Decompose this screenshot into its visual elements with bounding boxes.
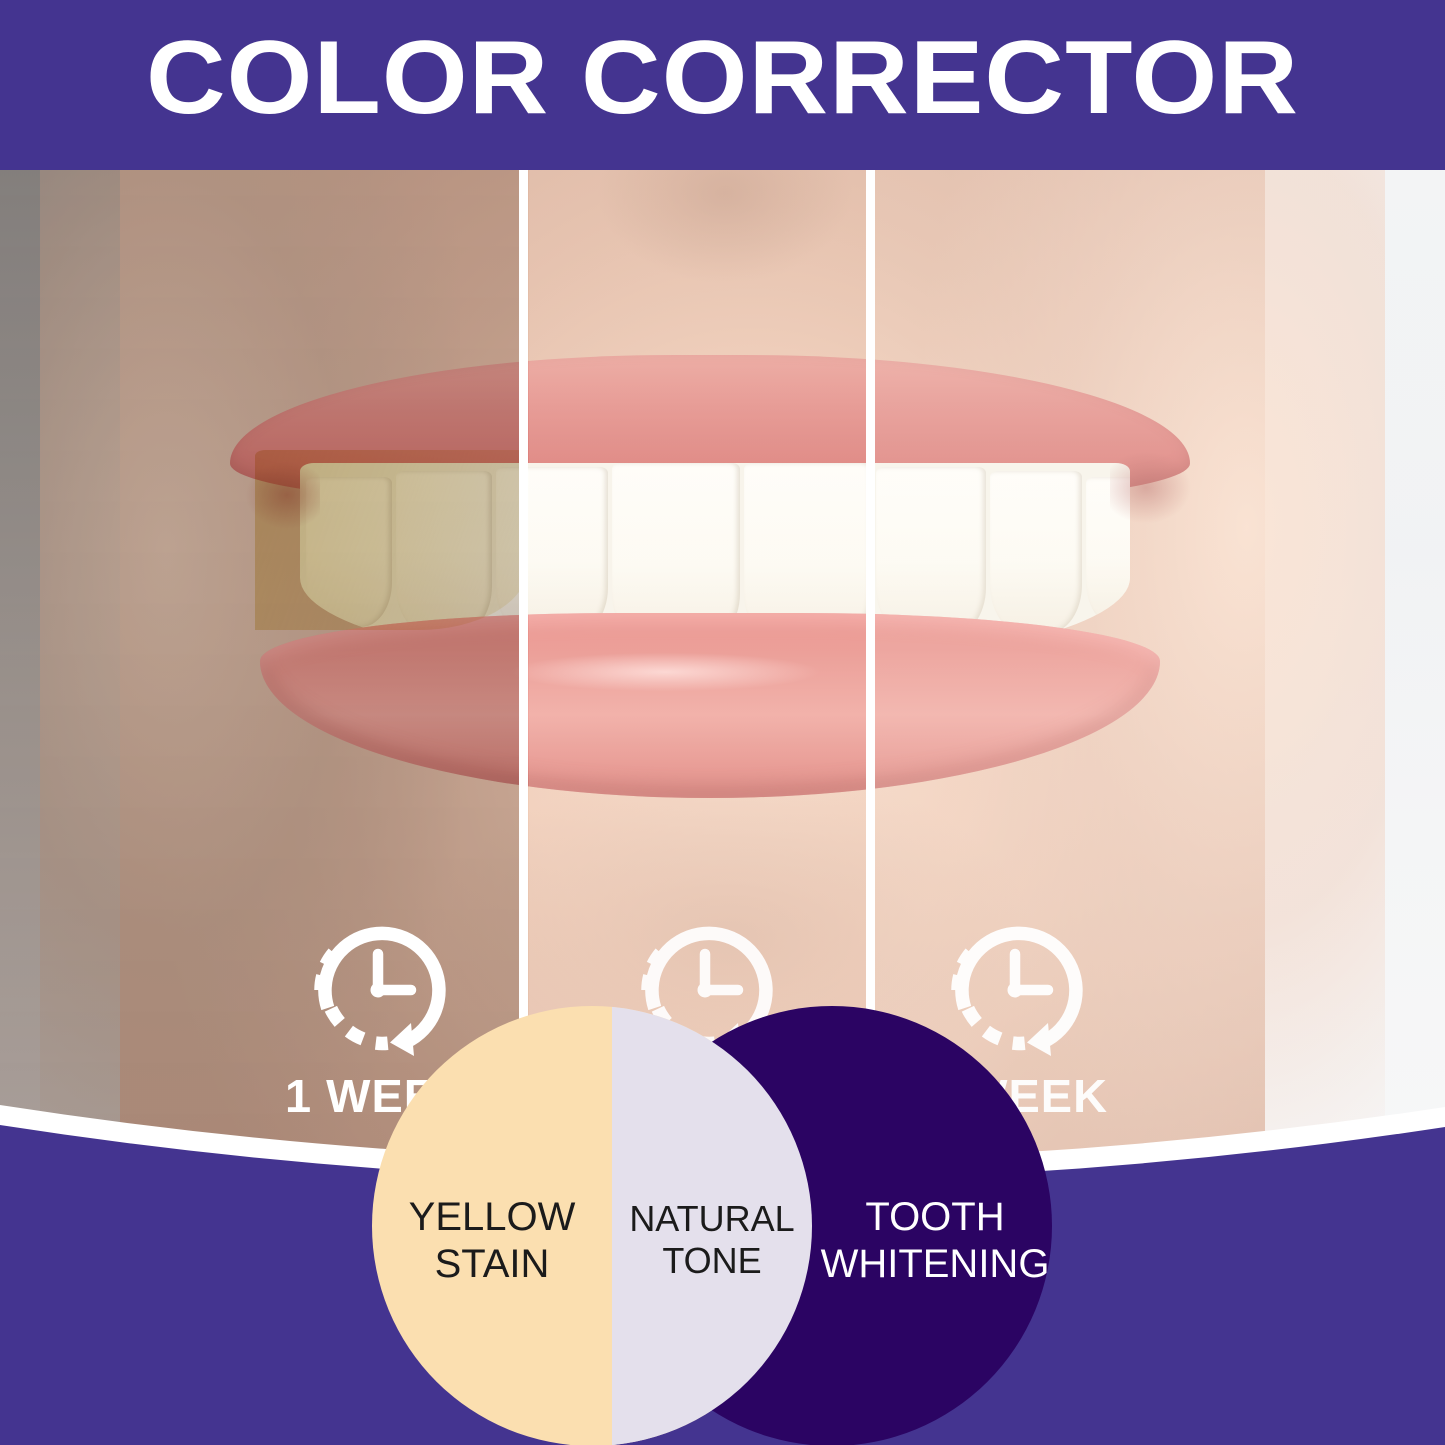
venn-label-tooth-whitening: TOOTH WHITENING (820, 1194, 1050, 1288)
venn-label-natural-tone: NATURAL TONE (610, 1198, 814, 1283)
yellow-stain-overlay (255, 450, 527, 630)
header-band: COLOR CORRECTOR (0, 0, 1445, 170)
mouth-corner-right (1110, 440, 1230, 535)
lower-lip-highlight (450, 645, 880, 699)
tooth (876, 467, 986, 639)
venn-diagram: YELLOW STAIN NATURAL TONE TOOTH WHITENIN… (372, 1006, 1052, 1445)
page-title: COLOR CORRECTOR (0, 26, 1445, 130)
tooth (990, 471, 1082, 633)
venn-label-yellow-stain: YELLOW STAIN (382, 1194, 602, 1288)
product-infographic: COLOR CORRECTOR (0, 0, 1445, 1445)
